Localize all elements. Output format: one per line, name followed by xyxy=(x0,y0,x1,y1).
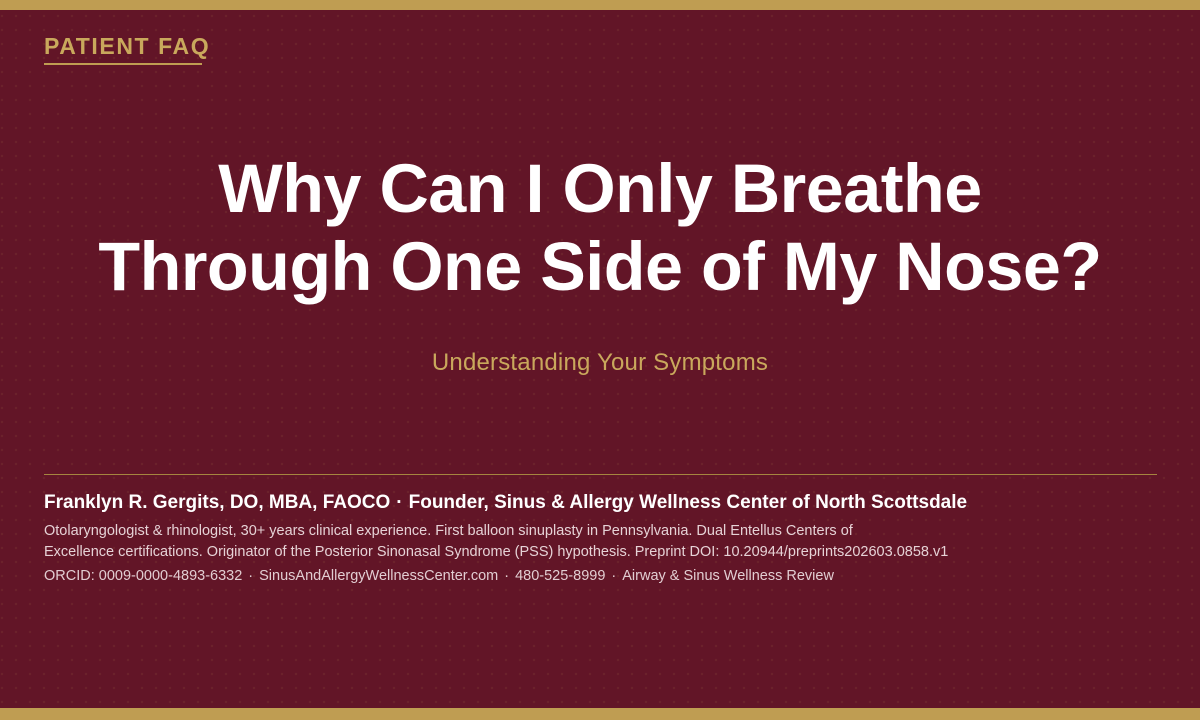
phone-number[interactable]: 480-525-8999 xyxy=(515,568,605,584)
author-bio: Otolaryngologist & rhinologist, 30+ year… xyxy=(44,521,1054,562)
website-link[interactable]: SinusAndAllergyWellnessCenter.com xyxy=(259,568,498,584)
orcid-id: ORCID: 0009-0000-4893-6332 xyxy=(44,568,242,584)
page-title-line-1: Why Can I Only Breathe xyxy=(6,150,1194,228)
kicker-label: PATIENT FAQ xyxy=(44,34,210,58)
byline-separator: · xyxy=(390,492,408,513)
top-accent-bar xyxy=(0,0,1200,10)
publication-name: Airway & Sinus Wellness Review xyxy=(622,568,834,584)
meta-separator-3: · xyxy=(605,568,622,584)
kicker-underline xyxy=(44,63,202,65)
page-title-line-2: Through One Side of My Nose? xyxy=(6,228,1194,306)
meta-separator-2: · xyxy=(498,568,515,584)
bottom-accent-bar xyxy=(0,708,1200,720)
author-role: Founder, Sinus & Allergy Wellness Center… xyxy=(409,492,968,513)
page-title: Why Can I Only Breathe Through One Side … xyxy=(0,150,1200,306)
author-byline: Franklyn R. Gergits, DO, MBA, FAOCO·Foun… xyxy=(44,491,967,515)
slide-content: PATIENT FAQ Why Can I Only Breathe Throu… xyxy=(0,0,1200,720)
meta-separator-1: · xyxy=(242,568,259,584)
author-name: Franklyn R. Gergits, DO, MBA, FAOCO xyxy=(44,492,390,513)
author-bio-line-2: Excellence certifications. Originator of… xyxy=(44,542,1054,563)
byline-divider xyxy=(44,474,1157,475)
author-meta-line: ORCID: 0009-0000-4893-6332·SinusAndAller… xyxy=(44,566,834,586)
author-bio-line-1: Otolaryngologist & rhinologist, 30+ year… xyxy=(44,521,1054,542)
page-subtitle: Understanding Your Symptoms xyxy=(0,348,1200,378)
kicker-block: PATIENT FAQ xyxy=(44,34,210,65)
